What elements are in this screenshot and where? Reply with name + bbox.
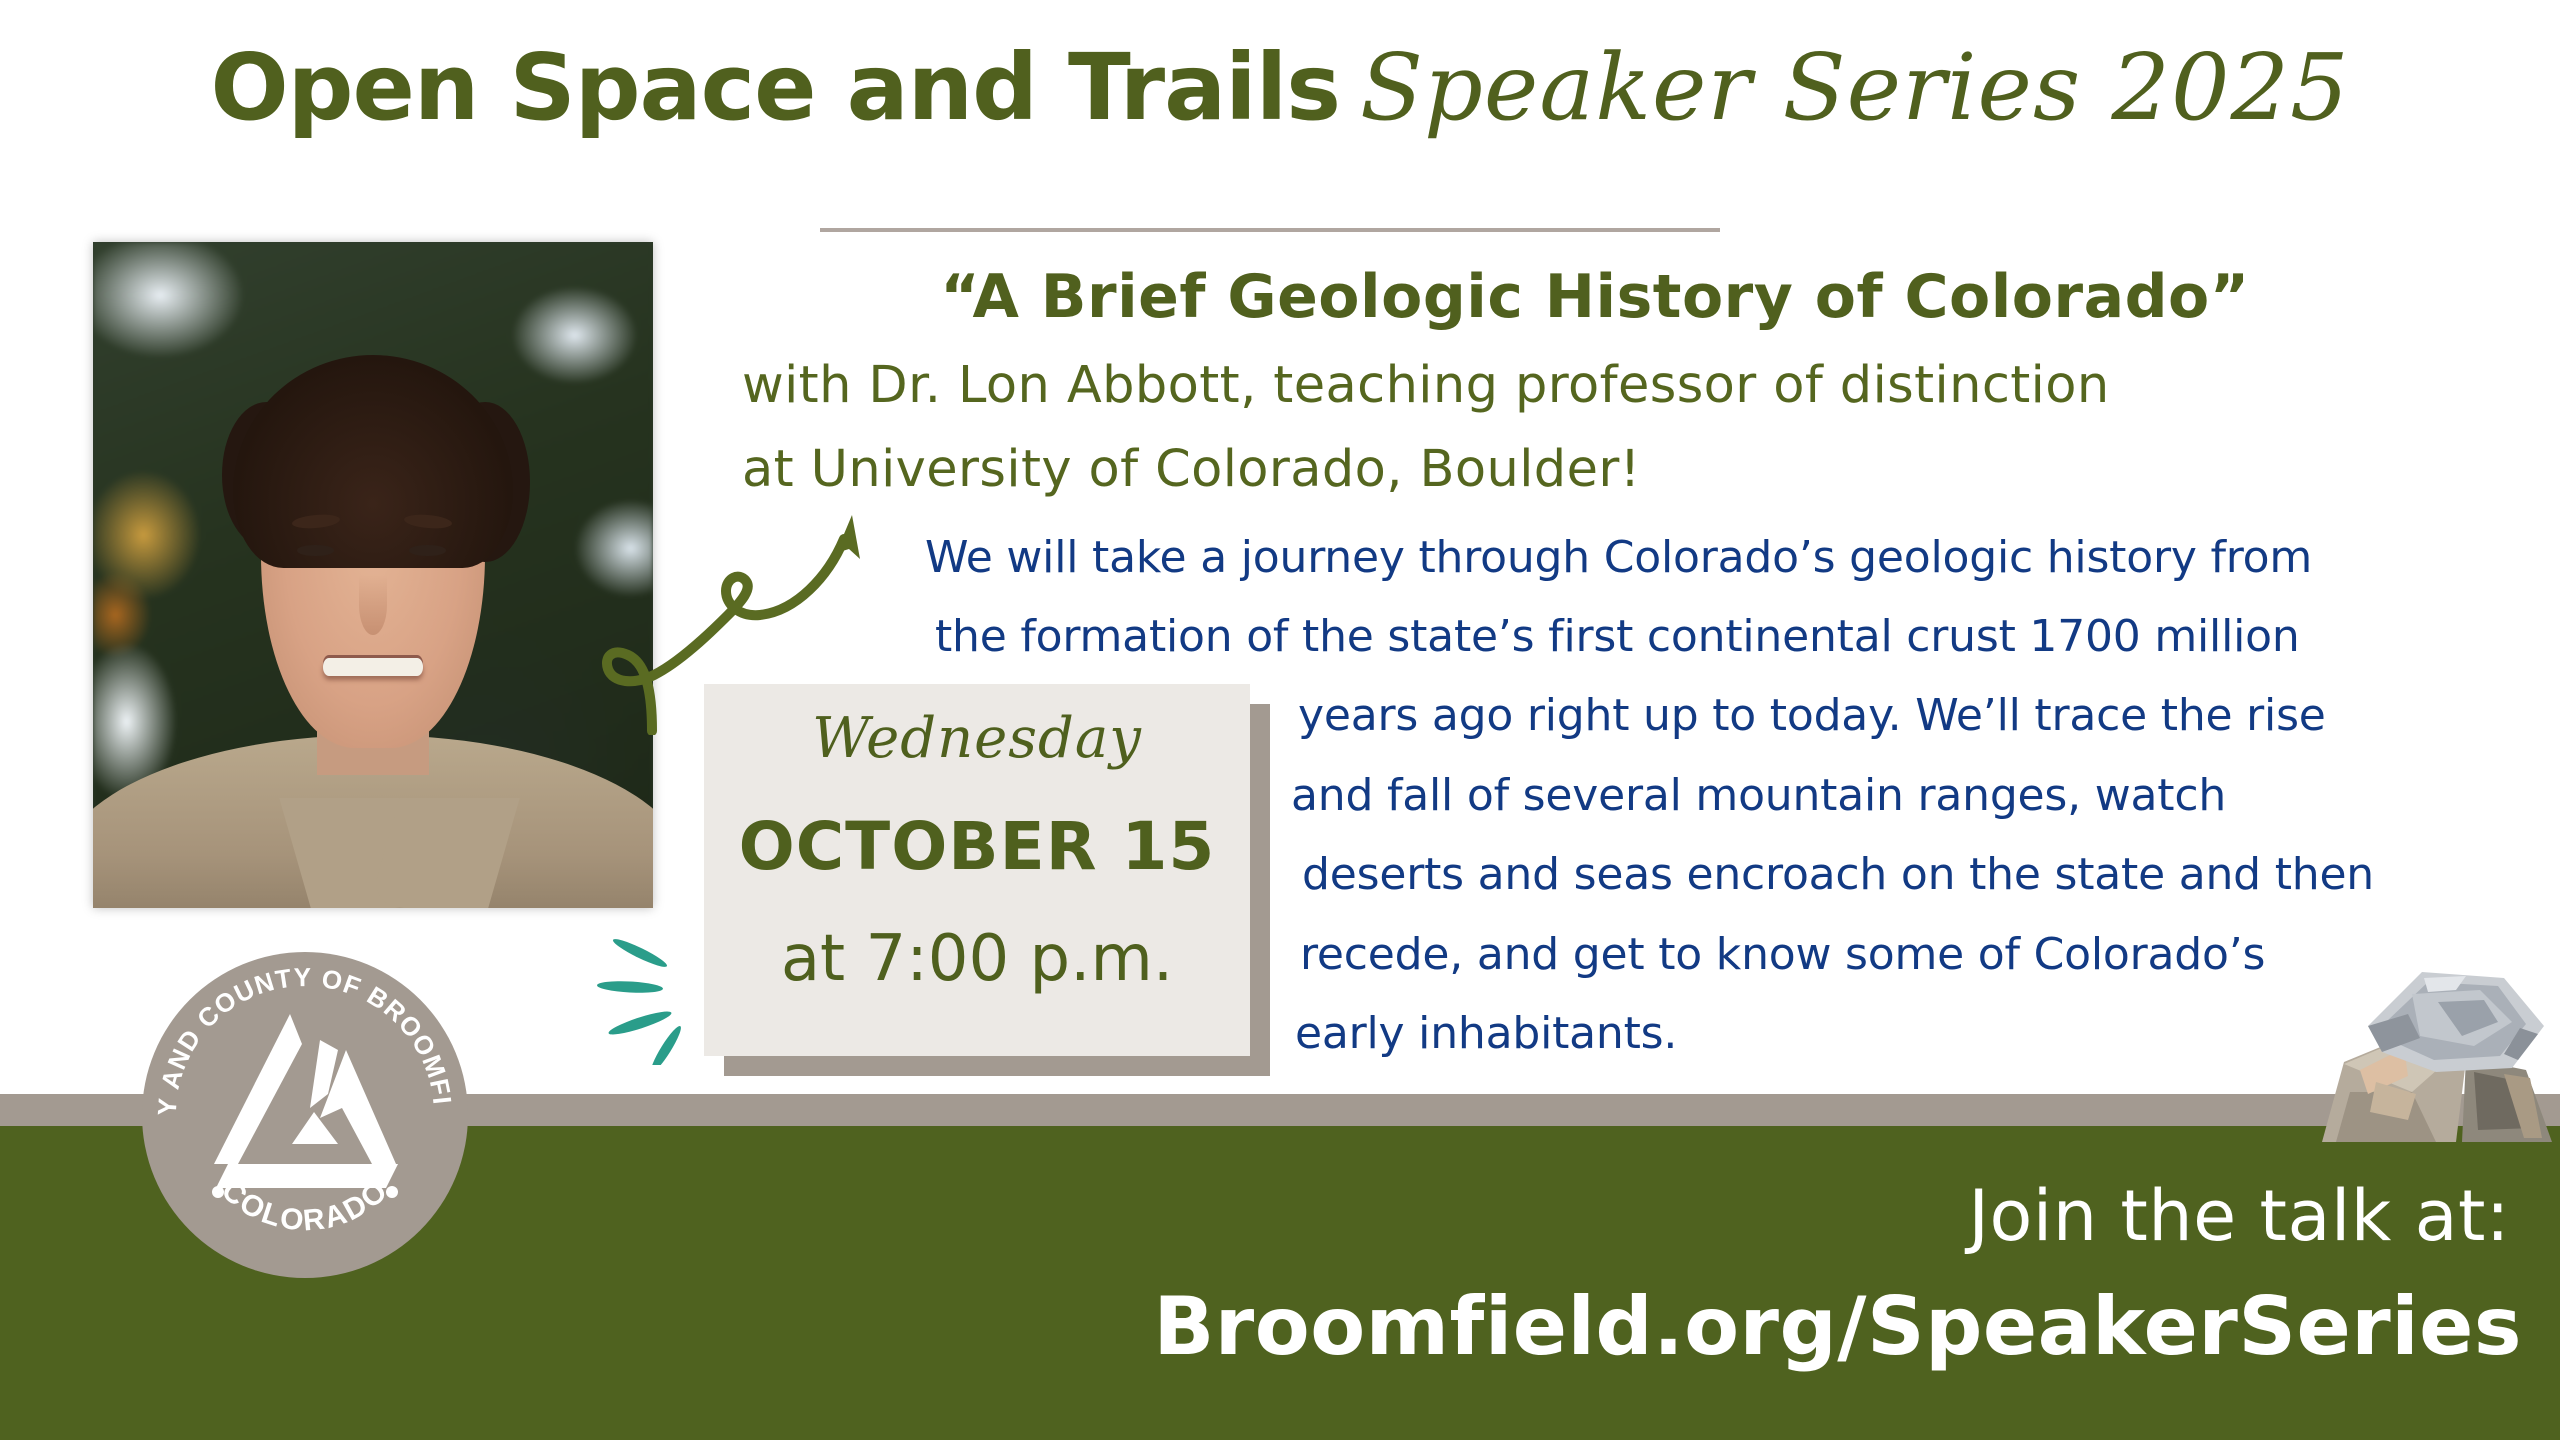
description-line: and fall of several mountain ranges, wat… xyxy=(1291,770,2226,821)
cta-url[interactable]: Broomfield.org/SpeakerSeries xyxy=(0,1280,2522,1373)
date-time: at 7:00 p.m. xyxy=(704,922,1250,996)
description-line: years ago right up to today. We’ll trace… xyxy=(1298,690,2326,741)
description-line: deserts and seas encroach on the state a… xyxy=(1302,849,2374,900)
date-card: Wednesday OCTOBER 15 at 7:00 p.m. xyxy=(704,684,1250,1056)
description-line: early inhabitants. xyxy=(1295,1008,1677,1059)
date-value: OCTOBER 15 xyxy=(704,808,1250,885)
talk-presenter-line-1: with Dr. Lon Abbott, teaching professor … xyxy=(742,356,2110,415)
portrait-eye-right xyxy=(409,545,445,556)
date-weekday: Wednesday xyxy=(704,706,1250,771)
talk-title: “A Brief Geologic History of Colorado” xyxy=(660,262,2530,332)
portrait-nose xyxy=(359,575,387,635)
description-line: the formation of the state’s first conti… xyxy=(935,611,2300,662)
header-title-bold: Open Space and Trails xyxy=(210,34,1340,141)
header-title-script: Speaker Series 2025 xyxy=(1360,34,2350,141)
description-line: We will take a journey through Colorado’… xyxy=(925,532,2312,583)
header-divider xyxy=(820,228,1720,232)
cta-join-label: Join the talk at: xyxy=(0,1175,2510,1257)
speaker-portrait-photo xyxy=(93,242,653,908)
portrait-eye-left xyxy=(297,545,333,556)
rock-cairn-image xyxy=(2316,942,2560,1154)
portrait-smile xyxy=(323,658,424,675)
talk-presenter-line-2: at University of Colorado, Boulder! xyxy=(742,440,1641,499)
header-title-row: Open Space and TrailsSpeaker Series 2025 xyxy=(0,34,2560,141)
flyer-canvas: Open Space and TrailsSpeaker Series 2025… xyxy=(0,0,2560,1440)
description-line: recede, and get to know some of Colorado… xyxy=(1300,929,2265,980)
